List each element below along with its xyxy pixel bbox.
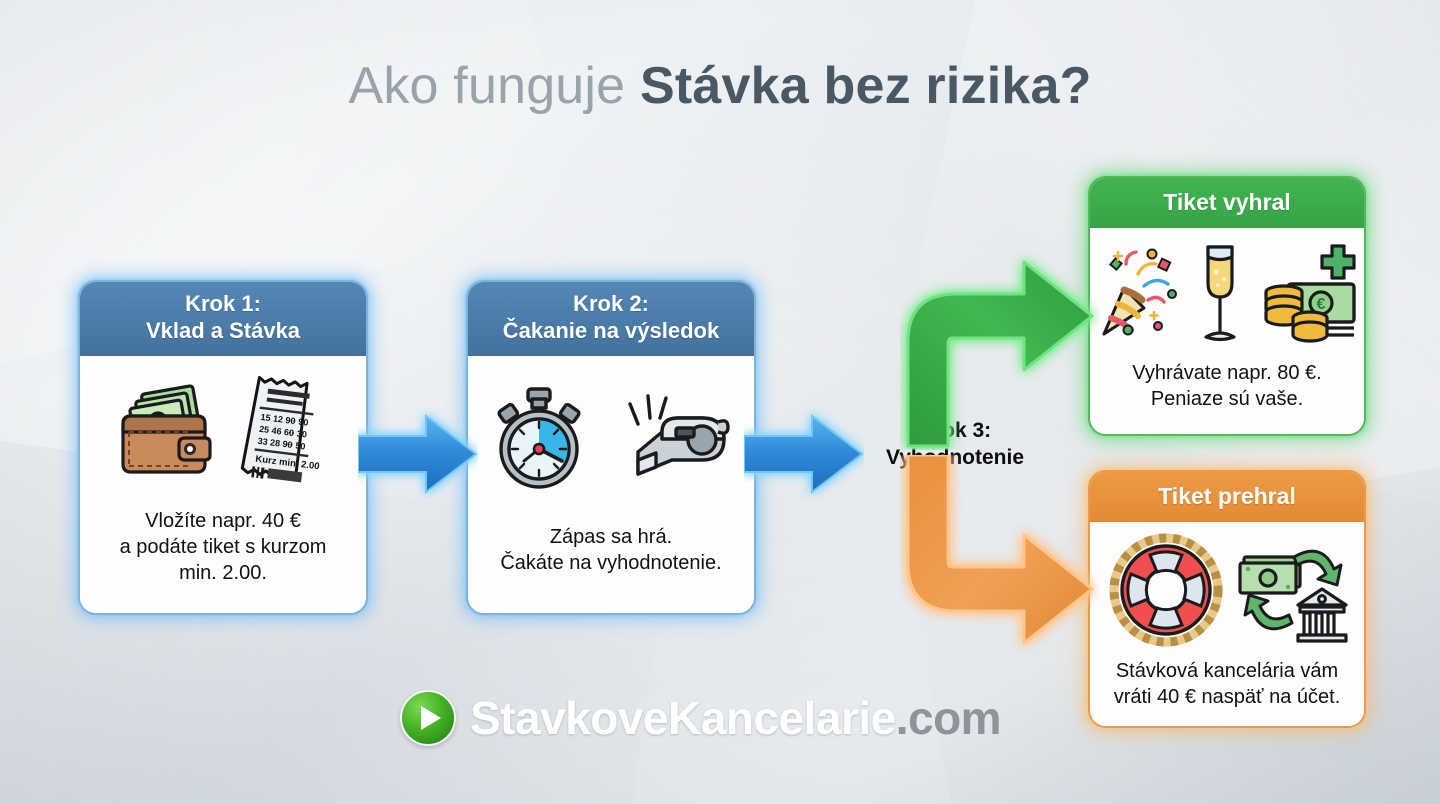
card-step-1[interactable]: Krok 1: Vklad a Stávka: [78, 280, 368, 615]
card-step-1-header-line1: Krok 1:: [88, 291, 358, 318]
play-button-icon: [400, 690, 456, 746]
card-step-2-icons: [468, 356, 754, 524]
card-step-2-header: Krok 2: Čakanie na výsledok: [468, 282, 754, 356]
champagne-glass-icon: [1192, 239, 1248, 349]
card-outcome-lose-caption-line1: Stávková kancelária vám: [1100, 658, 1354, 684]
card-step-1-body: 15 12 9090 25 46 6030 33 28 9050 Kurz mi…: [80, 356, 366, 615]
card-step-2-header-line1: Krok 2:: [476, 291, 746, 318]
arrow-step2-to-step3: [744, 408, 864, 500]
card-step-2[interactable]: Krok 2: Čakanie na výsledok: [466, 280, 756, 615]
life-ring-icon: [1106, 531, 1226, 649]
page-title: Ako funguje Stávka bez rizika?: [0, 58, 1440, 115]
referee-whistle-icon: [618, 388, 734, 492]
page-title-bold: Stávka bez rizika?: [640, 57, 1092, 115]
card-outcome-win[interactable]: Tiket vyhral: [1088, 176, 1366, 436]
card-outcome-lose-caption: Stávková kancelária vám vráti 40 € naspä…: [1090, 658, 1364, 711]
card-step-2-body: Zápas sa hrá. Čakáte na vyhodnotenie.: [468, 356, 754, 615]
card-step-2-caption-line1: Zápas sa hrá.: [478, 524, 744, 550]
card-outcome-lose-header: Tiket prehral: [1090, 472, 1364, 522]
site-logo-wordmark: StavkoveKancelarie.com: [470, 695, 1001, 741]
card-outcome-lose[interactable]: Tiket prehral: [1088, 470, 1366, 728]
card-outcome-win-caption-line2: Peniaze sú vaše.: [1100, 386, 1354, 412]
arrow-step1-to-step2: [358, 408, 478, 500]
arrow-step3-to-lose: [900, 455, 1100, 655]
site-logo[interactable]: StavkoveKancelarie.com: [400, 690, 1001, 746]
card-outcome-lose-caption-line2: vráti 40 € naspäť na účet.: [1100, 684, 1354, 710]
svg-text:90: 90: [298, 416, 309, 427]
infographic-canvas: Ako funguje Stávka bez rizika? Krok 1: V…: [0, 0, 1440, 804]
money-refund-to-bank-icon: [1238, 531, 1348, 649]
card-step-2-header-line2: Čakanie na výsledok: [476, 318, 746, 345]
card-outcome-win-body: € Vyhrávate napr. 80 €. Peniaze sú v: [1090, 228, 1364, 436]
svg-text:€: €: [1317, 296, 1326, 313]
card-step-1-icons: 15 12 9090 25 46 6030 33 28 9050 Kurz mi…: [80, 356, 366, 508]
card-outcome-lose-icons: [1090, 522, 1364, 658]
card-step-1-caption-line3: min. 2.00.: [90, 560, 356, 586]
card-outcome-win-icons: €: [1090, 228, 1364, 360]
site-logo-name: StavkoveKancelarie: [470, 692, 896, 744]
card-outcome-win-caption: Vyhrávate napr. 80 €. Peniaze sú vaše.: [1090, 360, 1364, 413]
stopwatch-icon: [488, 385, 592, 495]
euro-cash-coins-plus-icon: €: [1254, 242, 1360, 346]
card-step-1-header-line2: Vklad a Stávka: [88, 318, 358, 345]
card-outcome-win-header: Tiket vyhral: [1090, 178, 1364, 228]
card-step-2-caption: Zápas sa hrá. Čakáte na vyhodnotenie.: [468, 524, 754, 577]
card-outcome-win-caption-line1: Vyhrávate napr. 80 €.: [1100, 360, 1354, 386]
card-step-2-caption-line2: Čakáte na vyhodnotenie.: [478, 550, 744, 576]
arrow-step3-to-win: [900, 250, 1100, 450]
wallet-with-cash-icon: [111, 384, 219, 480]
card-step-1-caption-line1: Vložíte napr. 40 €: [90, 508, 356, 534]
card-step-1-header: Krok 1: Vklad a Stávka: [80, 282, 366, 356]
card-outcome-lose-body: Stávková kancelária vám vráti 40 € naspä…: [1090, 522, 1364, 728]
svg-text:30: 30: [296, 428, 307, 439]
page-title-light: Ako funguje: [348, 57, 640, 115]
betting-receipt-icon: 15 12 9090 25 46 6030 33 28 9050 Kurz mi…: [235, 373, 335, 491]
card-step-1-caption-line2: a podáte tiket s kurzom: [90, 534, 356, 560]
party-popper-icon: [1094, 246, 1186, 342]
card-step-1-caption: Vložíte napr. 40 € a podáte tiket s kurz…: [80, 508, 366, 587]
svg-text:50: 50: [295, 440, 306, 451]
site-logo-tld: .com: [896, 692, 1001, 744]
